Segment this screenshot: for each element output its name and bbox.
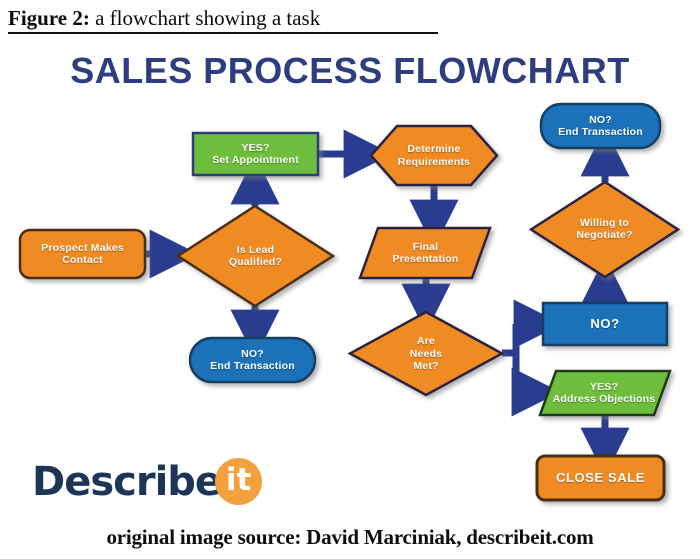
describeit-logo: Describe it	[32, 458, 262, 505]
node-close-sale[interactable]	[537, 456, 664, 500]
node-determine-requirements[interactable]	[371, 126, 497, 185]
logo-badge-icon: it	[215, 458, 262, 505]
node-willing-to-negotiate[interactable]	[531, 182, 678, 277]
node-is-lead-qualified[interactable]	[178, 206, 333, 306]
edge-needsmet-split	[502, 324, 536, 392]
node-yes-address-objections[interactable]	[540, 371, 670, 415]
node-prospect-makes-contact[interactable]	[20, 230, 145, 278]
node-are-needs-met[interactable]	[350, 312, 502, 395]
connector-group	[145, 154, 605, 450]
node-no-end-transaction-right[interactable]	[541, 104, 660, 148]
flowchart-figure: Figure 2: a flowchart showing a task SAL…	[0, 0, 700, 559]
node-no-right[interactable]	[543, 303, 667, 345]
node-no-end-transaction-left[interactable]	[190, 338, 315, 382]
source-attribution: original image source: David Marciniak, …	[0, 525, 700, 550]
logo-word: Describe	[32, 459, 221, 505]
node-yes-set-appointment[interactable]	[193, 133, 318, 175]
node-final-presentation[interactable]	[360, 228, 490, 278]
